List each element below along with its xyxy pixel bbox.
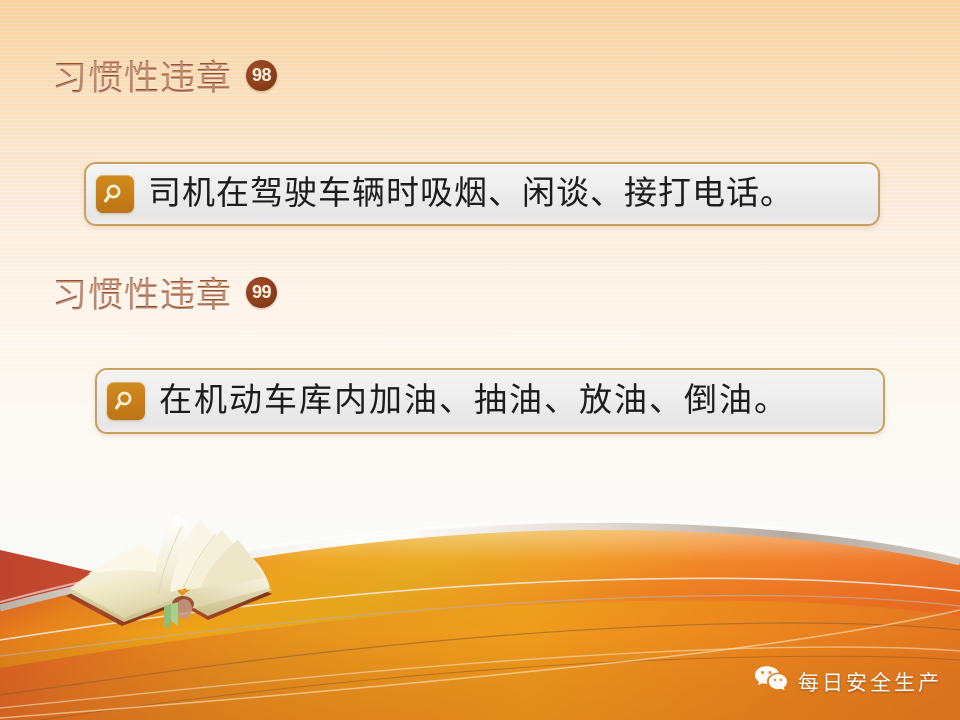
content-box-1[interactable]: 司机在驾驶车辆时吸烟、闲谈、接打电话。 — [84, 162, 880, 226]
heading-badge-2: 99 — [246, 277, 277, 308]
content-box-2[interactable]: 在机动车库内加油、抽油、放油、倒油。 — [95, 368, 885, 434]
content-text-1: 司机在驾驶车辆时吸烟、闲谈、接打电话。 — [148, 178, 794, 211]
background-texture — [0, 0, 960, 720]
content-text-2: 在机动车库内加油、抽油、放油、倒油。 — [159, 385, 789, 418]
wechat-icon — [754, 665, 788, 698]
watermark-label: 每日安全生产 — [798, 667, 942, 697]
heading-label-2: 习惯性违章 — [52, 267, 232, 318]
slide-canvas: 习惯性违章 98 司机在驾驶车辆时吸烟、闲谈、接打电话。 习惯性违章 99 在机… — [0, 0, 960, 720]
wechat-watermark: 每日安全生产 — [754, 665, 942, 698]
section-heading-2: 习惯性违章 99 — [52, 267, 277, 318]
magnifier-icon — [107, 382, 145, 420]
heading-badge-1: 98 — [246, 60, 277, 91]
section-heading-1: 习惯性违章 98 — [52, 50, 277, 101]
open-book-illustration — [58, 508, 288, 638]
magnifier-icon — [96, 175, 134, 213]
heading-label-1: 习惯性违章 — [52, 50, 232, 101]
